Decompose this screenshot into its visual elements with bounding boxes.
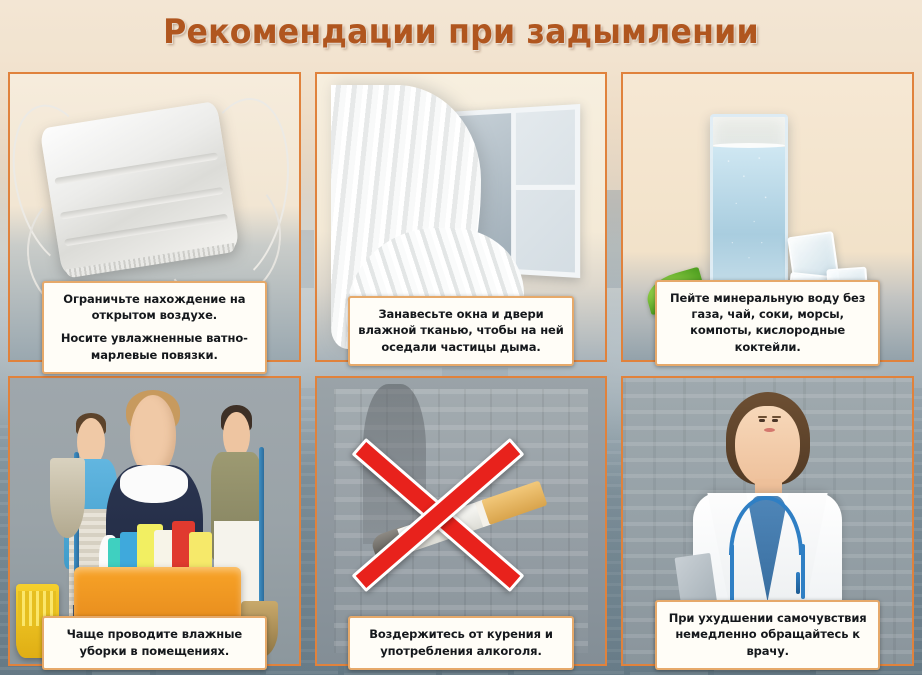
- panel-caption: Чаще проводите влажные уборки в помещени…: [42, 616, 267, 670]
- pen-icon: [796, 572, 800, 594]
- panel-caption: Воздержитесь от курения и употребления а…: [348, 616, 573, 670]
- panel-caption: Ограничьте нахождение на открытом воздух…: [42, 281, 267, 374]
- infographic-poster: Рекомендации при задымлении Ограничьте н…: [0, 0, 922, 675]
- mop-head-icon: [50, 458, 85, 538]
- caption-line: Ограничьте нахождение на открытом воздух…: [50, 291, 259, 324]
- panel-caption: Занавесьте окна и двери влажной тканью, …: [348, 296, 573, 366]
- panel-caption: Пейте минеральную воду без газа, чай, со…: [655, 280, 880, 366]
- caption-line: Чаще проводите влажные уборки в помещени…: [50, 626, 259, 659]
- panel-mask[interactable]: Ограничьте нахождение на открытом воздух…: [8, 72, 301, 362]
- panel-no-smoking[interactable]: Воздержитесь от курения и употребления а…: [315, 376, 608, 666]
- panel-water[interactable]: Пейте минеральную воду без газа, чай, со…: [621, 72, 914, 362]
- caption-line: Занавесьте окна и двери влажной тканью, …: [356, 306, 565, 355]
- recommendation-grid: Ограничьте нахождение на открытом воздух…: [8, 72, 914, 666]
- panel-curtain[interactable]: Занавесьте окна и двери влажной тканью, …: [315, 72, 608, 362]
- caption-line: При ухудшении самочувствия немедленно об…: [663, 610, 872, 659]
- panel-doctor[interactable]: При ухудшении самочувствия немедленно об…: [621, 376, 914, 666]
- caption-line: Пейте минеральную воду без газа, чай, со…: [663, 290, 872, 355]
- caption-line: Носите увлажненные ватно-марлевые повязк…: [50, 330, 259, 363]
- panel-caption: При ухудшении самочувствия немедленно об…: [655, 600, 880, 670]
- caption-line: Воздержитесь от курения и употребления а…: [356, 626, 565, 659]
- panel-cleaning[interactable]: Чаще проводите влажные уборки в помещени…: [8, 376, 301, 666]
- page-title: Рекомендации при задымлении: [32, 12, 889, 52]
- mask-body-icon: [40, 101, 240, 276]
